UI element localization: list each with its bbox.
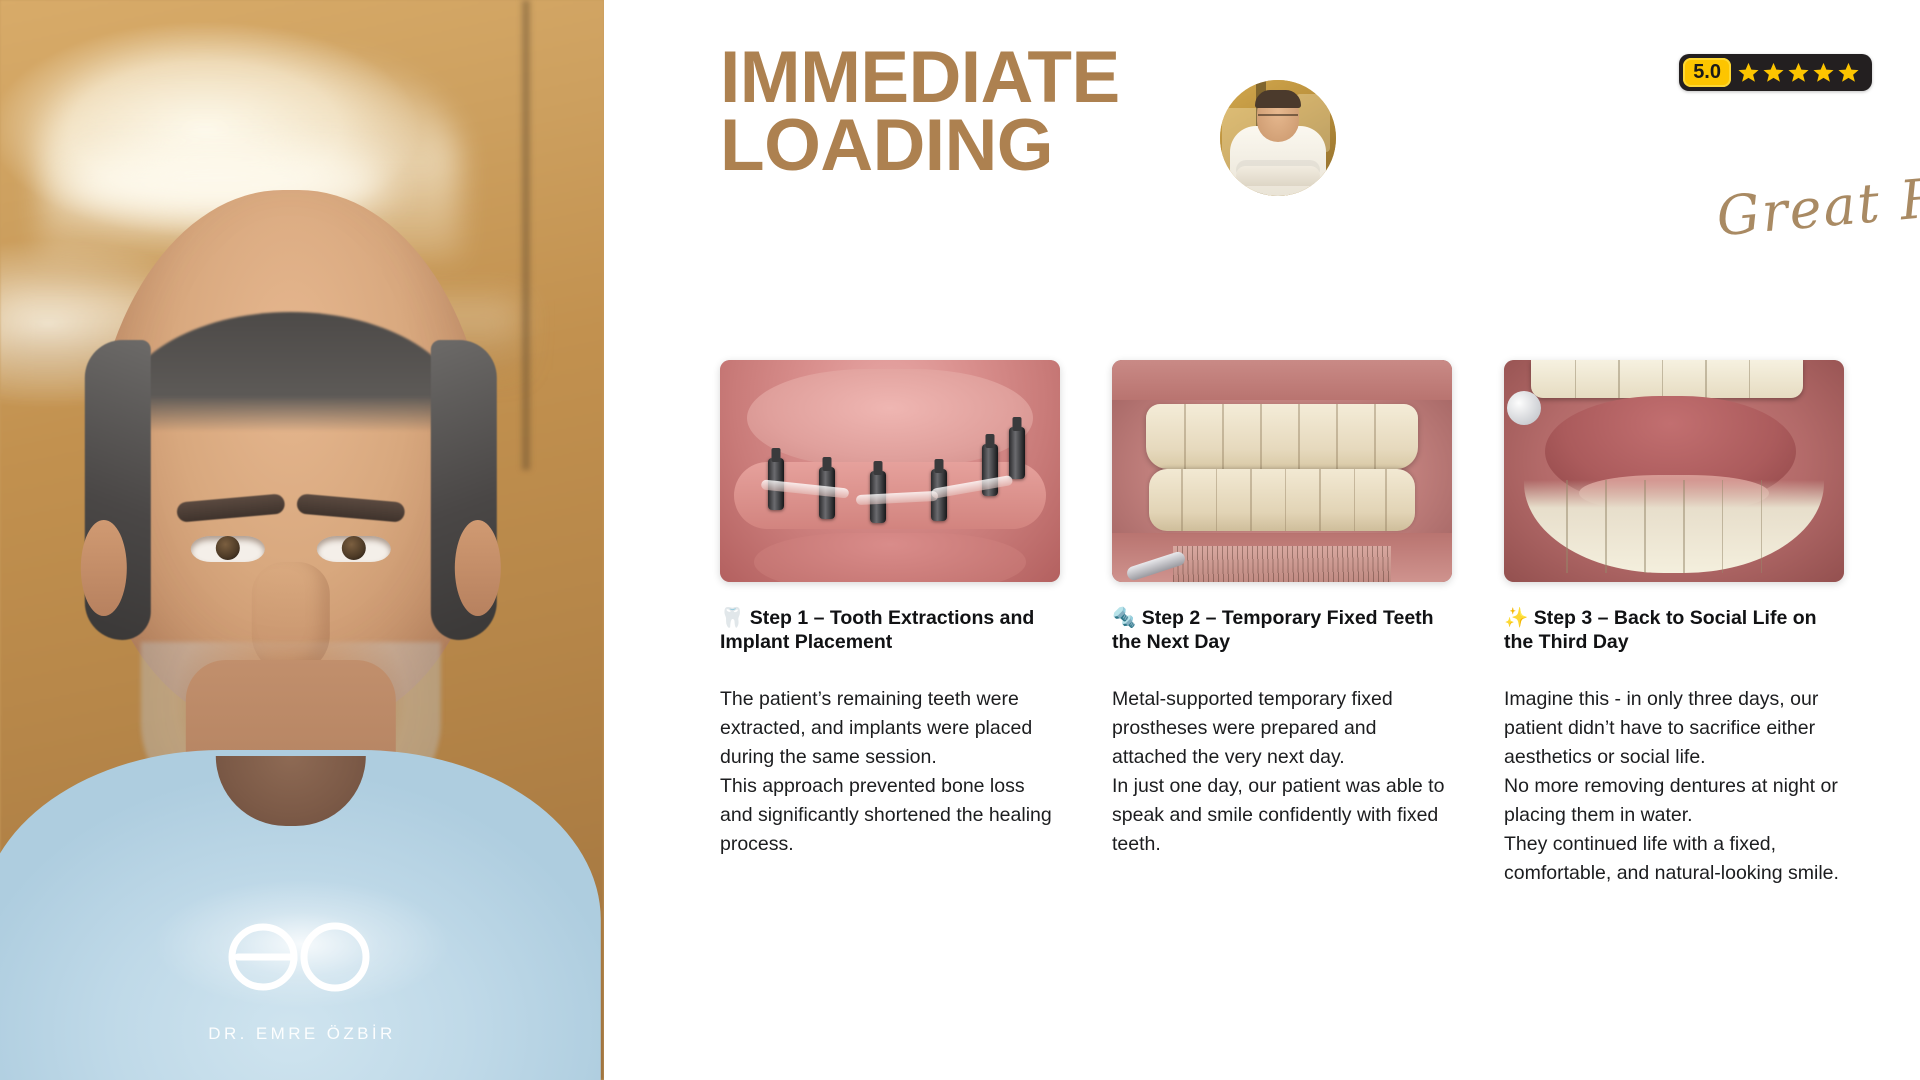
- clinical-photo-implants: [720, 360, 1060, 582]
- eo-monogram-icon: [216, 905, 388, 1014]
- patient-eye-right: [317, 536, 391, 562]
- iris: [342, 536, 366, 560]
- patient-photo-panel: DR. EMRE ÖZBİR: [0, 0, 604, 1080]
- slide-root: DR. EMRE ÖZBİR 5.0 IMMEDIATE LOADING: [0, 0, 1920, 1080]
- steps-row: 🦷 Step 1 – Tooth Extractions and Implant…: [720, 360, 1876, 888]
- star-icon: [1787, 61, 1810, 84]
- script-tagline: Great Results: [1714, 151, 1920, 249]
- iris: [216, 536, 240, 560]
- screw-emoji: 🔩: [1112, 606, 1136, 629]
- rating-score: 5.0: [1683, 58, 1731, 87]
- clinical-photo-final-result: [1504, 360, 1844, 582]
- star-icon: [1762, 61, 1785, 84]
- patient-brow-right: [296, 493, 405, 522]
- step-heading-text: Step 3 – Back to Social Life on the Thir…: [1504, 607, 1817, 653]
- step-card-1: 🦷 Step 1 – Tooth Extractions and Implant…: [720, 360, 1060, 888]
- step-heading: ✨ Step 3 – Back to Social Life on the Th…: [1504, 606, 1844, 655]
- step-heading-text: Step 2 – Temporary Fixed Teeth the Next …: [1112, 607, 1434, 653]
- page-title: IMMEDIATE LOADING: [720, 44, 1480, 180]
- clinical-photo-temporary-prosthesis: [1112, 360, 1452, 582]
- patient-eye-left: [191, 536, 265, 562]
- patient-ear-right: [455, 520, 501, 616]
- patient-hair-top: [115, 312, 467, 432]
- patient-brow-left: [176, 493, 285, 522]
- step-body: Metal-supported temporary fixed prosthes…: [1112, 685, 1452, 859]
- rating-badge: 5.0: [1679, 54, 1872, 91]
- step-body: The patient’s remaining teeth were extra…: [720, 685, 1060, 859]
- step-card-2: 🔩 Step 2 – Temporary Fixed Teeth the Nex…: [1112, 360, 1452, 888]
- step-card-3: ✨ Step 3 – Back to Social Life on the Th…: [1504, 360, 1844, 888]
- brand-logo: DR. EMRE ÖZBİR: [0, 905, 604, 1044]
- step-body: Imagine this - in only three days, our p…: [1504, 685, 1844, 888]
- tooth-emoji: 🦷: [720, 606, 744, 629]
- star-icon: [1737, 61, 1760, 84]
- brand-logo-name: DR. EMRE ÖZBİR: [208, 1024, 395, 1044]
- content-panel: 5.0 IMMEDIATE LOADING Great Results: [604, 0, 1920, 1080]
- step-heading: 🔩 Step 2 – Temporary Fixed Teeth the Nex…: [1112, 606, 1452, 655]
- star-icon: [1812, 61, 1835, 84]
- title-line-2: LOADING: [720, 112, 1480, 180]
- step-heading: 🦷 Step 1 – Tooth Extractions and Implant…: [720, 606, 1060, 655]
- star-icon: [1837, 61, 1860, 84]
- patient-head: [91, 190, 491, 730]
- patient-ear-left: [81, 520, 127, 616]
- rating-stars: [1737, 61, 1862, 84]
- sparkles-emoji: ✨: [1504, 606, 1528, 629]
- doctor-portrait-icon: [1220, 80, 1336, 196]
- step-heading-text: Step 1 – Tooth Extractions and Implant P…: [720, 607, 1034, 653]
